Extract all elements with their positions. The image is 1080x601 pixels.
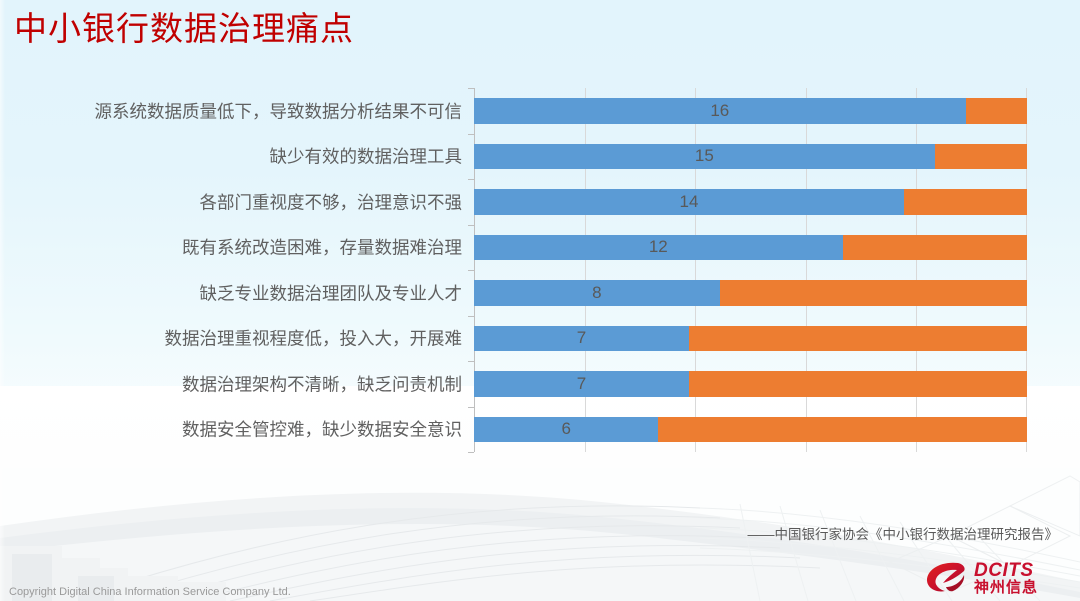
axis-tick: [468, 88, 474, 89]
table-row[interactable]: 6: [474, 417, 1027, 443]
logo-mark: [927, 563, 965, 592]
bar-segment-primary[interactable]: [474, 189, 904, 215]
axis-tick: [468, 361, 474, 362]
axis-tick: [468, 270, 474, 271]
bar-segment-secondary[interactable]: [904, 189, 1027, 215]
bar-segment-primary[interactable]: [474, 326, 689, 352]
table-row[interactable]: 7: [474, 326, 1027, 352]
axis-tick: [468, 407, 474, 408]
bar-segment-primary[interactable]: [474, 235, 843, 261]
bar-segment-secondary[interactable]: [720, 280, 1027, 306]
bar-segment-primary[interactable]: [474, 98, 966, 124]
table-row[interactable]: 8: [474, 280, 1027, 306]
axis-tick: [468, 225, 474, 226]
table-row[interactable]: 7: [474, 371, 1027, 397]
source-attribution: ——中国银行家协会《中小银行数据治理研究报告》: [748, 523, 1059, 543]
plot-area: 16 15 14 12: [474, 88, 1027, 452]
axis-tick: [468, 134, 474, 135]
category-axis-labels: 源系统数据质量低下，导致数据分析结果不可信 缺少有效的数据治理工具 各部门重视度…: [0, 88, 462, 452]
category-label: 缺少有效的数据治理工具: [0, 144, 462, 169]
bar-segment-secondary[interactable]: [689, 371, 1027, 397]
category-label: 数据治理架构不清晰，缺乏问责机制: [0, 371, 462, 396]
category-label: 源系统数据质量低下，导致数据分析结果不可信: [0, 98, 462, 123]
bar-segment-secondary[interactable]: [689, 326, 1027, 352]
table-row[interactable]: 15: [474, 144, 1027, 170]
table-row[interactable]: 12: [474, 235, 1027, 261]
bar-segment-secondary[interactable]: [843, 235, 1027, 261]
dcits-logo: DCITS 神州信息: [924, 557, 1072, 597]
page-title: 中小银行数据治理痛点: [14, 6, 354, 52]
stacked-bar-chart: 源系统数据质量低下，导致数据分析结果不可信 缺少有效的数据治理工具 各部门重视度…: [0, 84, 1040, 456]
axis-tick: [468, 179, 474, 180]
category-label: 数据治理重视程度低，投入大，开展难: [0, 326, 462, 351]
svg-text:神州信息: 神州信息: [974, 578, 1038, 596]
logo-wordmark: DCITS 神州信息: [974, 560, 1038, 596]
table-row[interactable]: 14: [474, 189, 1027, 215]
bar-segment-secondary[interactable]: [966, 98, 1027, 124]
bar-segment-primary[interactable]: [474, 144, 935, 170]
category-label: 缺乏专业数据治理团队及专业人才: [0, 280, 462, 305]
bar-segment-secondary[interactable]: [935, 144, 1027, 170]
category-label: 既有系统改造困难，存量数据难治理: [0, 235, 462, 260]
axis-tick: [468, 316, 474, 317]
table-row[interactable]: 16: [474, 98, 1027, 124]
bar-segment-primary[interactable]: [474, 417, 658, 443]
bar-segment-primary[interactable]: [474, 280, 720, 306]
slide-canvas: 中小银行数据治理痛点 源系统数据质量低下，导致数据分析结果不可信 缺少有效的数据…: [0, 0, 1080, 601]
bar-segment-primary[interactable]: [474, 371, 689, 397]
copyright-text: Copyright Digital China Information Serv…: [9, 586, 291, 598]
category-label: 数据安全管控难，缺少数据安全意识: [0, 417, 462, 442]
axis-tick: [468, 452, 474, 453]
category-label: 各部门重视度不够，治理意识不强: [0, 189, 462, 214]
bar-segment-secondary[interactable]: [658, 417, 1027, 443]
